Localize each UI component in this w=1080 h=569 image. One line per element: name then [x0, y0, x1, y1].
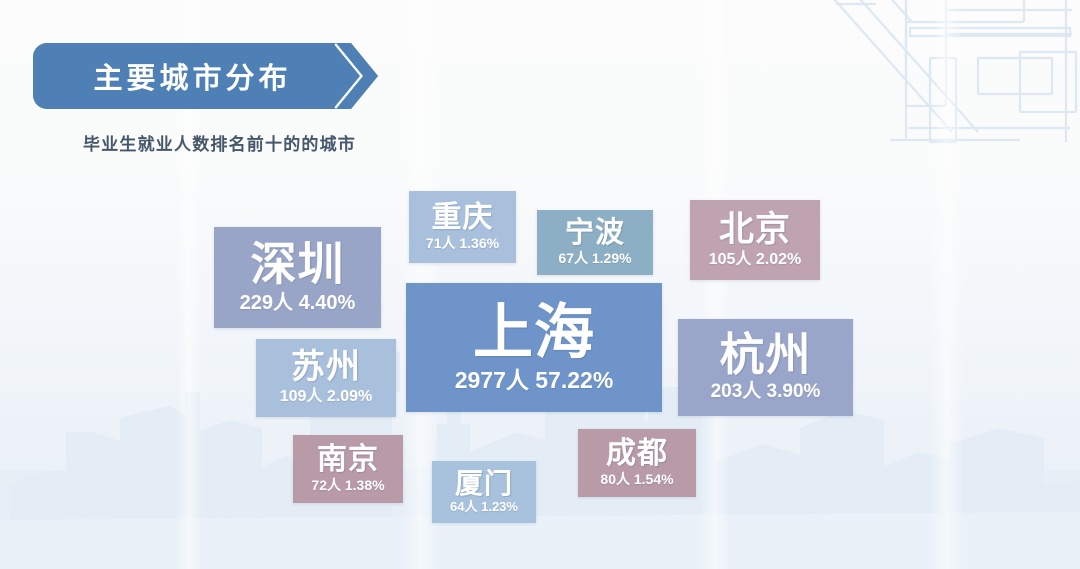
city-name: 南京 [317, 445, 379, 476]
city-block-chengdu[interactable]: 成都80人 1.54% [578, 429, 696, 497]
city-name: 北京 [719, 212, 791, 248]
light-streak [930, 0, 964, 569]
city-stat: 80人 1.54% [600, 472, 673, 487]
city-block-xiamen[interactable]: 厦门64人 1.23% [432, 461, 536, 523]
city-stat: 109人 2.09% [280, 388, 373, 406]
city-stat: 105人 2.02% [709, 251, 802, 269]
city-block-shenzhen[interactable]: 深圳229人 4.40% [214, 227, 381, 328]
city-block-ningbo[interactable]: 宁波67人 1.29% [537, 210, 653, 275]
light-streak [700, 0, 730, 569]
city-stat: 67人 1.29% [558, 251, 631, 266]
subtitle: 毕业生就业人数排名前十的的城市 [83, 130, 356, 155]
city-stat: 64人 1.23% [450, 500, 518, 514]
city-name: 成都 [606, 439, 668, 470]
city-block-beijing[interactable]: 北京105人 2.02% [690, 200, 820, 280]
city-stat: 72人 1.38% [311, 478, 384, 493]
city-block-suzhou[interactable]: 苏州109人 2.09% [256, 339, 396, 417]
city-stat: 71人 1.36% [426, 236, 499, 251]
city-name: 上海 [473, 302, 595, 363]
page-title: 主要城市分布 [33, 43, 348, 109]
city-name: 苏州 [291, 350, 361, 385]
city-name: 宁波 [565, 219, 625, 249]
city-block-shanghai[interactable]: 上海2977人 57.22% [406, 283, 662, 412]
city-name: 厦门 [455, 470, 513, 499]
city-stat: 2977人 57.22% [455, 368, 614, 393]
infographic-canvas: 主要城市分布 毕业生就业人数排名前十的的城市 深圳229人 4.40%重庆71人… [0, 0, 1080, 569]
city-block-nanjing[interactable]: 南京72人 1.38% [293, 435, 403, 503]
city-block-chongqing[interactable]: 重庆71人 1.36% [409, 191, 516, 263]
title-banner: 主要城市分布 [33, 43, 378, 109]
city-stat: 203人 3.90% [711, 382, 821, 403]
city-block-hangzhou[interactable]: 杭州203人 3.90% [678, 319, 853, 416]
city-stat: 229人 4.40% [240, 292, 356, 314]
city-name: 深圳 [251, 241, 345, 288]
city-name: 重庆 [432, 203, 494, 234]
city-name: 杭州 [719, 332, 811, 378]
